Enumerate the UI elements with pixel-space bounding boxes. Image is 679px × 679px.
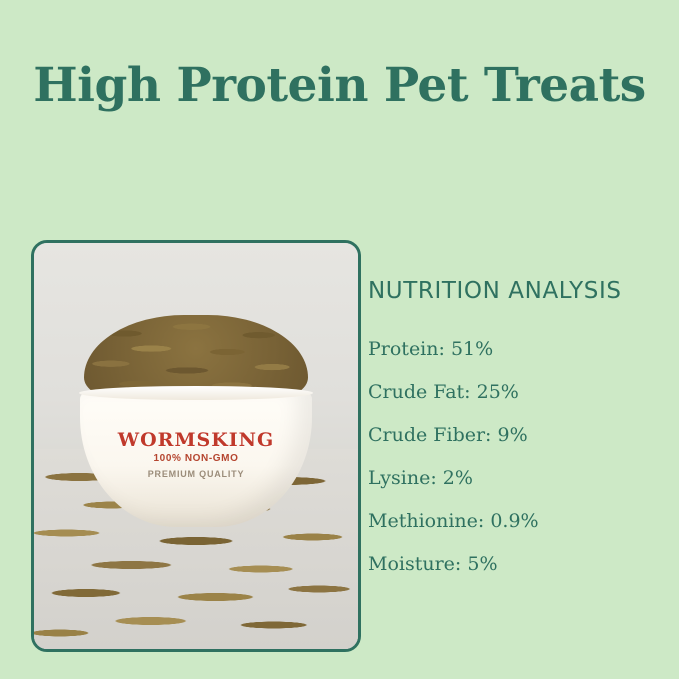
bowl-rim xyxy=(79,386,313,400)
list-item: Protein: 51% xyxy=(368,340,660,359)
product-photo-frame: WORMSKING 100% NON-GMO PREMIUM QUALITY xyxy=(31,240,361,652)
product-photo: WORMSKING 100% NON-GMO PREMIUM QUALITY xyxy=(34,243,358,649)
list-item: Crude Fat: 25% xyxy=(368,383,660,402)
list-item: Crude Fiber: 9% xyxy=(368,426,660,445)
nutrition-list: Protein: 51% Crude Fat: 25% Crude Fiber:… xyxy=(368,340,660,574)
nutrition-panel: NUTRITION ANALYSIS Protein: 51% Crude Fa… xyxy=(368,278,660,598)
list-item: Moisture: 5% xyxy=(368,555,660,574)
bowl-premium-quality-label: PREMIUM QUALITY xyxy=(80,469,312,479)
bowl-non-gmo-label: 100% NON-GMO xyxy=(80,453,312,464)
list-item: Lysine: 2% xyxy=(368,469,660,488)
product-poster: High Protein Pet Treats WORMSKING 100% N… xyxy=(0,0,679,679)
nutrition-analysis-heading: NUTRITION ANALYSIS xyxy=(368,278,660,304)
page-title: High Protein Pet Treats xyxy=(0,58,679,113)
list-item: Methionine: 0.9% xyxy=(368,512,660,531)
bowl-brand-label: WORMSKING xyxy=(80,429,312,451)
